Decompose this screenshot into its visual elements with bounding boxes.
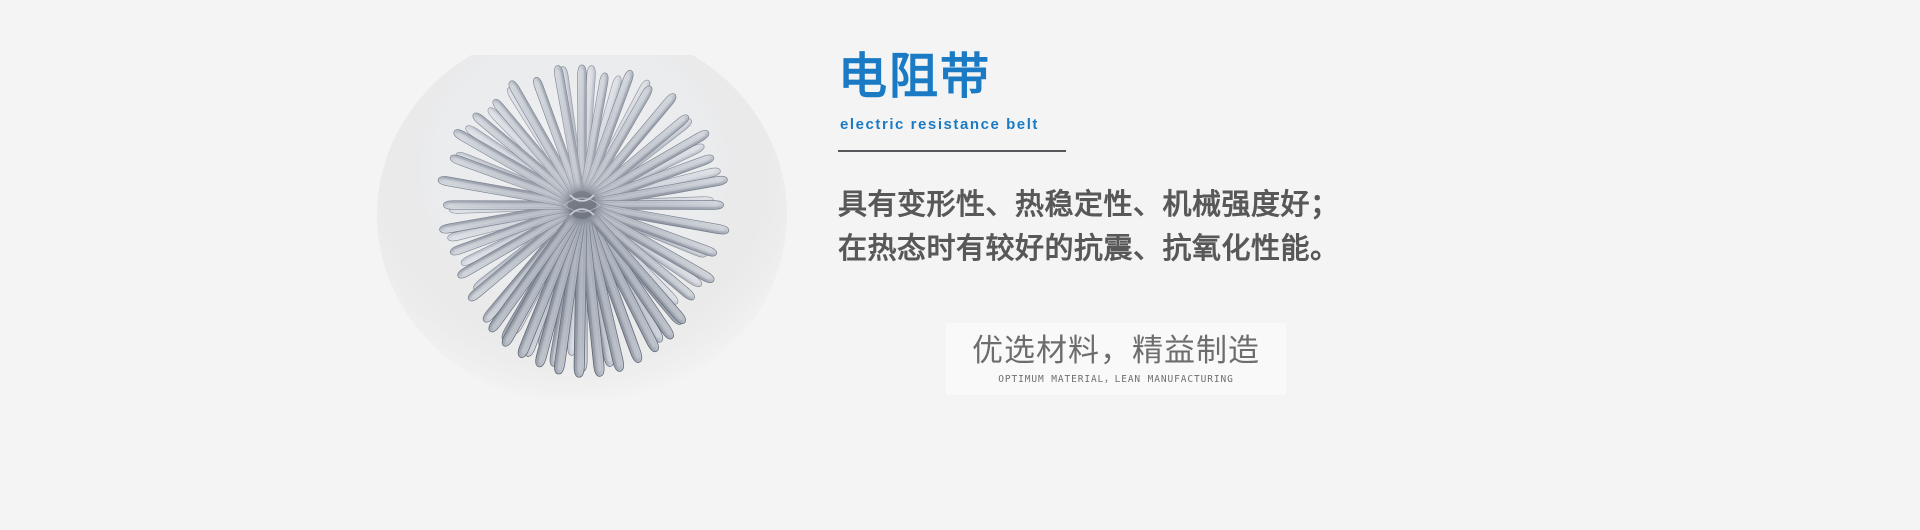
product-description: 具有变形性、热稳定性、机械强度好； 在热态时有较好的抗震、抗氧化性能。 — [838, 182, 1538, 270]
page-title: 电阻带 — [838, 48, 1538, 106]
product-image — [370, 55, 795, 425]
description-line-1: 具有变形性、热稳定性、机械强度好； — [838, 182, 1538, 226]
slogan-chinese: 优选材料，精益制造 — [956, 332, 1276, 370]
slogan-block: 优选材料，精益制造 OPTIMUM MATERIAL，LEAN MANUFACT… — [946, 323, 1286, 395]
banner-content: 电阻带 electric resistance belt 具有变形性、热稳定性、… — [838, 48, 1538, 488]
product-banner: 电阻带 electric resistance belt 具有变形性、热稳定性、… — [0, 0, 1920, 530]
resistance-belt-bundle-illustration — [370, 55, 795, 425]
title-block: 电阻带 electric resistance belt — [838, 48, 1538, 152]
page-subtitle: electric resistance belt — [840, 115, 1538, 135]
description-line-2: 在热态时有较好的抗震、抗氧化性能。 — [838, 226, 1538, 270]
title-divider — [838, 150, 1066, 152]
slogan-english: OPTIMUM MATERIAL，LEAN MANUFACTURING — [956, 373, 1276, 387]
